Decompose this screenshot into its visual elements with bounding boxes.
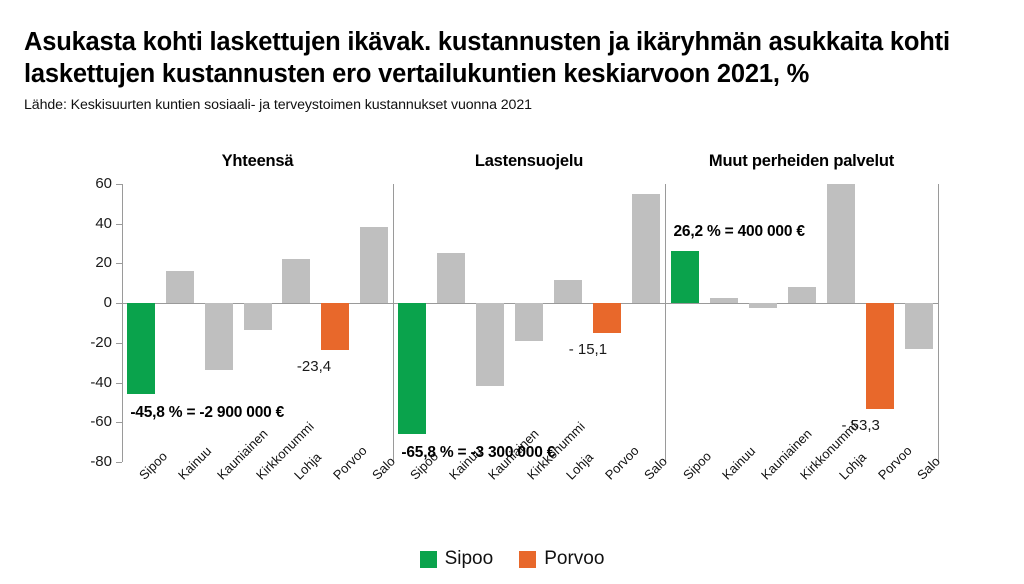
value-callout-label: -65,8 % = -3 300 000 € [401, 444, 555, 462]
panel-separator-line [393, 184, 394, 462]
bar [321, 303, 349, 349]
bar [398, 303, 426, 434]
bar [476, 303, 504, 385]
bar [360, 227, 388, 303]
y-axis-tick-mark [116, 462, 122, 463]
chart-plot-area: 6040200-20-40-60-80YhteensäSipooKainuuKa… [0, 0, 1024, 584]
x-axis-category-label: Kainuu [175, 443, 214, 482]
x-axis-category-label: Porvoo [330, 443, 370, 483]
x-axis-category-label: Lohja [563, 450, 596, 483]
x-axis-category-label: Porvoo [602, 443, 642, 483]
y-axis-line [122, 184, 123, 462]
bar [905, 303, 933, 349]
y-axis-tick-label: 60 [68, 176, 112, 191]
bar [437, 253, 465, 304]
x-axis-category-label: Lohja [291, 450, 324, 483]
x-axis-category-label: Porvoo [875, 443, 915, 483]
bar [788, 287, 816, 303]
legend-item-label: Sipoo [445, 548, 494, 570]
chart-legend: SipooPorvoo [0, 548, 1024, 570]
x-axis-category-label: Lohja [836, 450, 869, 483]
bar [554, 280, 582, 303]
bar [671, 251, 699, 303]
bar [127, 303, 155, 394]
bar [282, 259, 310, 303]
panel-title: Yhteensä [122, 152, 393, 171]
panel-title: Lastensuojelu [393, 152, 665, 171]
bar [866, 303, 894, 409]
value-callout-label: -45,8 % = -2 900 000 € [130, 404, 284, 422]
bar [205, 303, 233, 370]
value-callout-label: 26,2 % = 400 000 € [674, 223, 805, 241]
bar [166, 271, 194, 303]
legend-swatch-porvoo [519, 551, 536, 568]
x-axis-category-label: Sipoo [136, 448, 170, 482]
x-axis-category-label: Kainuu [719, 443, 758, 482]
x-axis-category-label: Sipoo [680, 448, 714, 482]
y-axis-tick-label: -20 [68, 335, 112, 350]
y-axis-tick-label: -40 [68, 375, 112, 390]
bar [632, 194, 660, 303]
legend-item[interactable]: Sipoo [420, 548, 494, 570]
legend-swatch-sipoo [420, 551, 437, 568]
legend-item[interactable]: Porvoo [519, 548, 604, 570]
bar [710, 298, 738, 303]
y-axis-tick-label: 20 [68, 255, 112, 270]
bar [827, 184, 855, 303]
y-axis-tick-label: 0 [68, 295, 112, 310]
bar [244, 303, 272, 330]
legend-item-label: Porvoo [544, 548, 604, 570]
value-label: - 53,3 [842, 417, 880, 434]
bar [515, 303, 543, 341]
y-axis-tick-label: -60 [68, 414, 112, 429]
panel-separator-line [665, 184, 666, 462]
bar [593, 303, 621, 333]
bar [749, 303, 777, 308]
panel-separator-line [938, 184, 939, 462]
zero-baseline [665, 303, 938, 304]
y-axis-tick-label: 40 [68, 216, 112, 231]
panel-title: Muut perheiden palvelut [665, 152, 938, 171]
value-label: - 15,1 [569, 341, 607, 358]
y-axis-tick-label: -80 [68, 454, 112, 469]
value-label: -23,4 [297, 358, 331, 375]
